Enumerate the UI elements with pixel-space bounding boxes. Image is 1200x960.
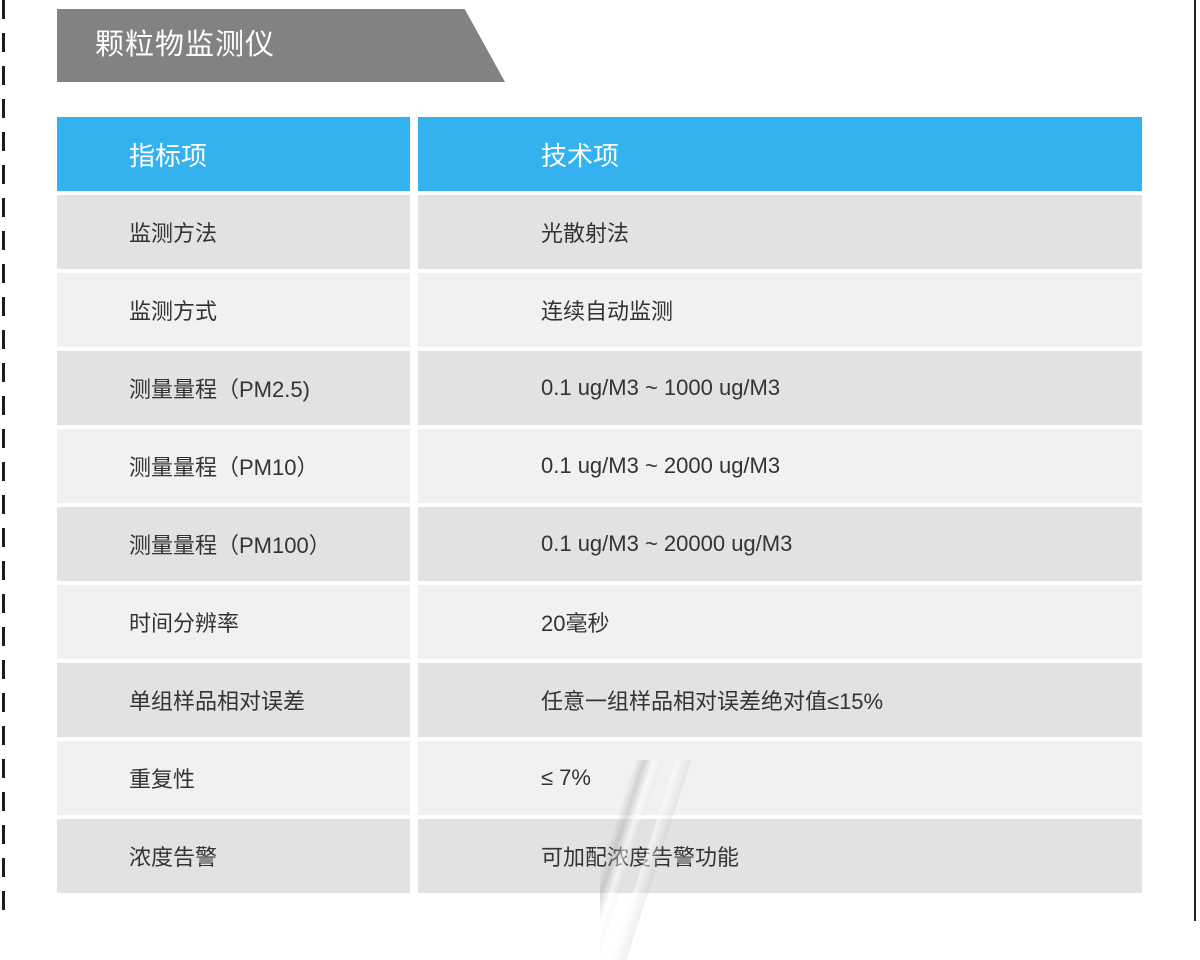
page-right-solid-rule — [1194, 0, 1196, 921]
cell-technical-value: 连续自动监测 — [418, 273, 1142, 347]
specification-table: 指标项 技术项 监测方法光散射法监测方式连续自动监测测量量程（PM2.5)0.1… — [57, 117, 1142, 893]
cell-indicator-label: 监测方式 — [57, 273, 410, 347]
column-header-indicator: 指标项 — [57, 117, 410, 191]
cell-technical-value: 0.1 ug/M3 ~ 1000 ug/M3 — [418, 351, 1142, 425]
cell-indicator-label: 时间分辨率 — [57, 585, 410, 659]
column-header-technical: 技术项 — [418, 117, 1142, 191]
cell-technical-value: 0.1 ug/M3 ~ 20000 ug/M3 — [418, 507, 1142, 581]
cell-indicator-label: 测量量程（PM100） — [57, 507, 410, 581]
page-left-dashed-rule — [2, 0, 5, 921]
table-row: 测量量程（PM10）0.1 ug/M3 ~ 2000 ug/M3 — [57, 429, 1142, 503]
cell-indicator-label: 测量量程（PM10） — [57, 429, 410, 503]
cell-indicator-label: 浓度告警 — [57, 819, 410, 893]
table-row: 监测方式连续自动监测 — [57, 273, 1142, 347]
cell-technical-value: 20毫秒 — [418, 585, 1142, 659]
cell-technical-value: 0.1 ug/M3 ~ 2000 ug/M3 — [418, 429, 1142, 503]
table-row: 测量量程（PM2.5)0.1 ug/M3 ~ 1000 ug/M3 — [57, 351, 1142, 425]
table-header-row: 指标项 技术项 — [57, 117, 1142, 191]
product-title-banner: 颗粒物监测仪 — [57, 9, 505, 82]
cell-technical-value: 任意一组样品相对误差绝对值≤15% — [418, 663, 1142, 737]
table-row: 测量量程（PM100）0.1 ug/M3 ~ 20000 ug/M3 — [57, 507, 1142, 581]
table-row: 浓度告警可加配浓度告警功能 — [57, 819, 1142, 893]
table-row: 单组样品相对误差任意一组样品相对误差绝对值≤15% — [57, 663, 1142, 737]
cell-technical-value: ≤ 7% — [418, 741, 1142, 815]
cell-indicator-label: 测量量程（PM2.5) — [57, 351, 410, 425]
cell-technical-value: 可加配浓度告警功能 — [418, 819, 1142, 893]
cell-indicator-label: 单组样品相对误差 — [57, 663, 410, 737]
table-row: 监测方法光散射法 — [57, 195, 1142, 269]
table-row: 重复性≤ 7% — [57, 741, 1142, 815]
cell-indicator-label: 监测方法 — [57, 195, 410, 269]
cell-indicator-label: 重复性 — [57, 741, 410, 815]
page-title: 颗粒物监测仪 — [95, 31, 275, 60]
table-row: 时间分辨率20毫秒 — [57, 585, 1142, 659]
cell-technical-value: 光散射法 — [418, 195, 1142, 269]
